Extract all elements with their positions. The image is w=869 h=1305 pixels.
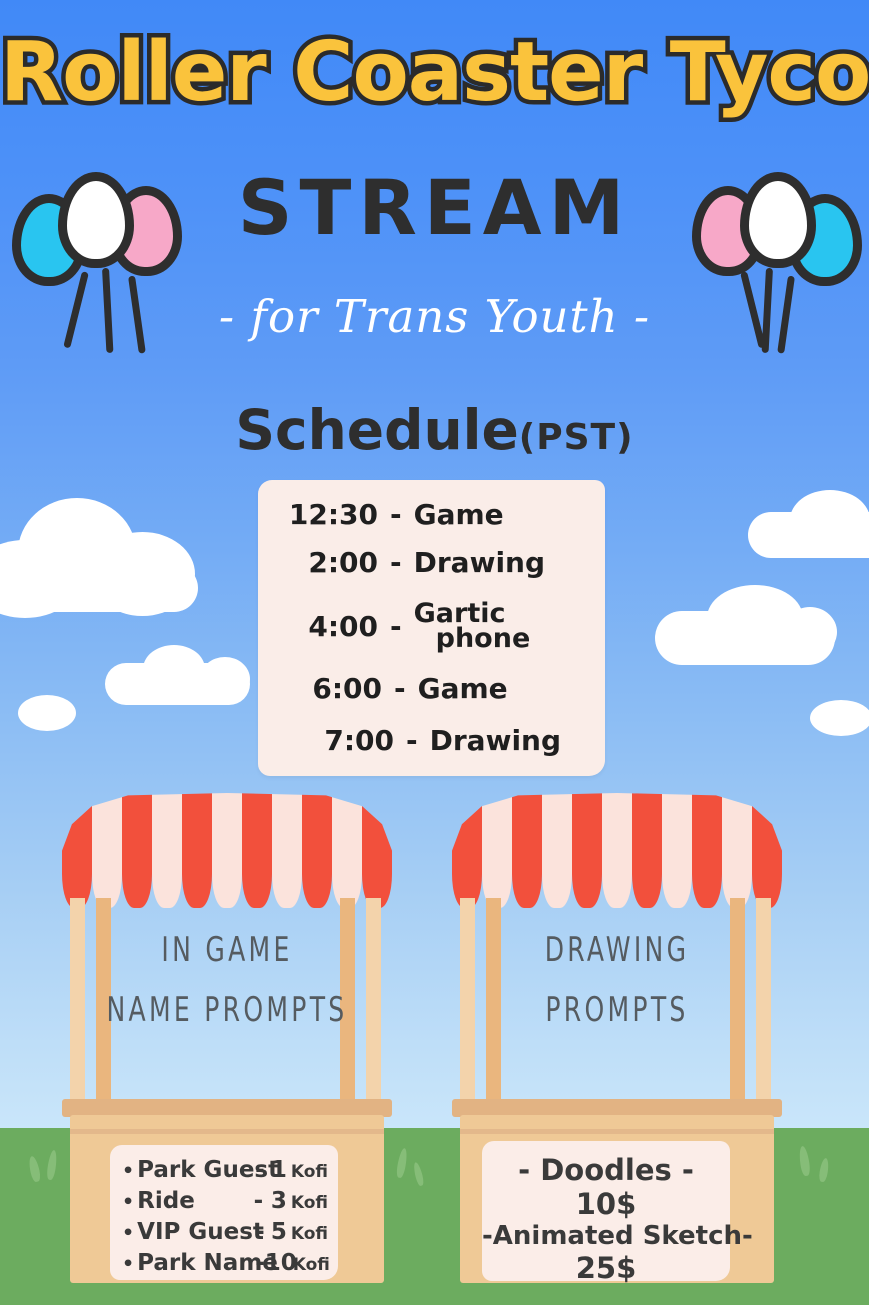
bullet-icon: •	[122, 1253, 134, 1275]
schedule-row: 12:30 - Game	[284, 498, 504, 531]
schedule-time: 2:00	[296, 546, 378, 579]
schedule-activity: Drawing	[414, 546, 545, 579]
stall-title-line2: NAME PROMPTS	[92, 981, 363, 1041]
stall-post	[70, 898, 85, 1113]
poster-canvas: Roller Coaster Tycoon STREAM - for Trans…	[0, 0, 869, 1305]
schedule-heading-text: Schedule	[235, 398, 518, 462]
cloud-icon	[0, 498, 220, 608]
sign-line: 25$	[482, 1251, 730, 1285]
price-amount: 1	[265, 1157, 287, 1183]
stall-title-line2: PROMPTS	[482, 981, 753, 1041]
poster-cause-line: - for Trans Youth -	[0, 290, 869, 343]
sign-line: - Doodles -	[482, 1153, 730, 1187]
price-row: • VIP Guest - 5 Kofi	[122, 1219, 328, 1245]
price-row: • Ride - 3 Kofi	[122, 1188, 328, 1214]
schedule-activity: Game	[418, 672, 508, 705]
schedule-time: 7:00	[316, 724, 394, 757]
price-dash: -	[255, 1250, 265, 1276]
cloud-icon	[655, 585, 835, 665]
price-sign: - Doodles - 10$ -Animated Sketch- 25$	[482, 1141, 730, 1281]
stall-title-line1: IN GAME	[92, 921, 363, 981]
schedule-row: 2:00 - Drawing	[296, 546, 545, 579]
price-currency: Kofi	[291, 1193, 328, 1213]
sign-line: 10$	[482, 1187, 730, 1221]
bullet-icon: •	[122, 1191, 134, 1213]
stall-drawing-prompts: DRAWING PROMPTS - Doodles - 10$ -Animate…	[452, 793, 782, 1293]
price-sign: • Park Guest - 1 Kofi • Ride - 3 Kofi • …	[110, 1145, 338, 1280]
price-label: VIP Guest	[137, 1219, 255, 1245]
counter-trim	[460, 1129, 774, 1134]
schedule-row: 6:00 - Game	[308, 672, 508, 705]
price-dash: -	[254, 1188, 264, 1214]
stall-post	[756, 898, 771, 1113]
price-amount: 10	[265, 1250, 289, 1276]
counter-trim	[70, 1129, 384, 1134]
schedule-dash: -	[382, 672, 418, 705]
schedule-row: 4:00 - Gartic phone	[296, 602, 530, 652]
price-amount: 5	[265, 1219, 287, 1245]
price-currency: Kofi	[291, 1162, 328, 1182]
price-row: • Park Name - 10 Kofi	[122, 1250, 328, 1276]
schedule-row: 7:00 - Drawing	[316, 724, 561, 757]
cloud-icon	[18, 695, 76, 731]
schedule-time: 4:00	[296, 610, 378, 643]
schedule-timezone: (PST)	[519, 417, 634, 458]
stall-post	[366, 898, 381, 1113]
price-label: Ride	[137, 1188, 253, 1214]
schedule-heading: Schedule(PST)	[0, 398, 869, 462]
schedule-dash: -	[378, 610, 414, 643]
price-dash: -	[255, 1219, 265, 1245]
schedule-time: 6:00	[308, 672, 382, 705]
schedule-dash: -	[394, 724, 430, 757]
price-dash: -	[255, 1157, 265, 1183]
schedule-dash: -	[378, 498, 414, 531]
schedule-activity-line2: phone	[436, 627, 531, 652]
price-label: Park Name	[137, 1250, 255, 1276]
price-row: • Park Guest - 1 Kofi	[122, 1157, 328, 1183]
price-label: Park Guest	[137, 1157, 255, 1183]
sign-line: -Animated Sketch-	[482, 1221, 730, 1251]
schedule-card: 12:30 - Game 2:00 - Drawing 4:00 - Garti…	[258, 480, 605, 776]
schedule-dash: -	[378, 546, 414, 579]
awning	[62, 793, 392, 913]
price-currency: Kofi	[291, 1224, 328, 1244]
stall-title: DRAWING PROMPTS	[482, 921, 753, 1040]
cloud-icon	[748, 490, 869, 560]
poster-subtitle-stream: STREAM	[0, 168, 869, 248]
stall-post	[460, 898, 475, 1113]
cloud-icon	[810, 700, 869, 736]
bullet-icon: •	[122, 1222, 134, 1244]
price-currency: Kofi	[293, 1255, 330, 1275]
cloud-icon	[105, 645, 250, 705]
stall-title-line1: DRAWING	[482, 921, 753, 981]
schedule-activity: Game	[414, 498, 504, 531]
bullet-icon: •	[122, 1160, 134, 1182]
stall-in-game-name-prompts: IN GAME NAME PROMPTS • Park Guest - 1 Ko…	[62, 793, 392, 1293]
schedule-activity: Gartic phone	[414, 602, 531, 652]
schedule-time: 12:30	[284, 498, 378, 531]
awning	[452, 793, 782, 913]
schedule-activity: Drawing	[430, 724, 561, 757]
price-amount: 3	[263, 1188, 287, 1214]
poster-title: Roller Coaster Tycoon	[0, 28, 869, 118]
stall-title: IN GAME NAME PROMPTS	[92, 921, 363, 1040]
